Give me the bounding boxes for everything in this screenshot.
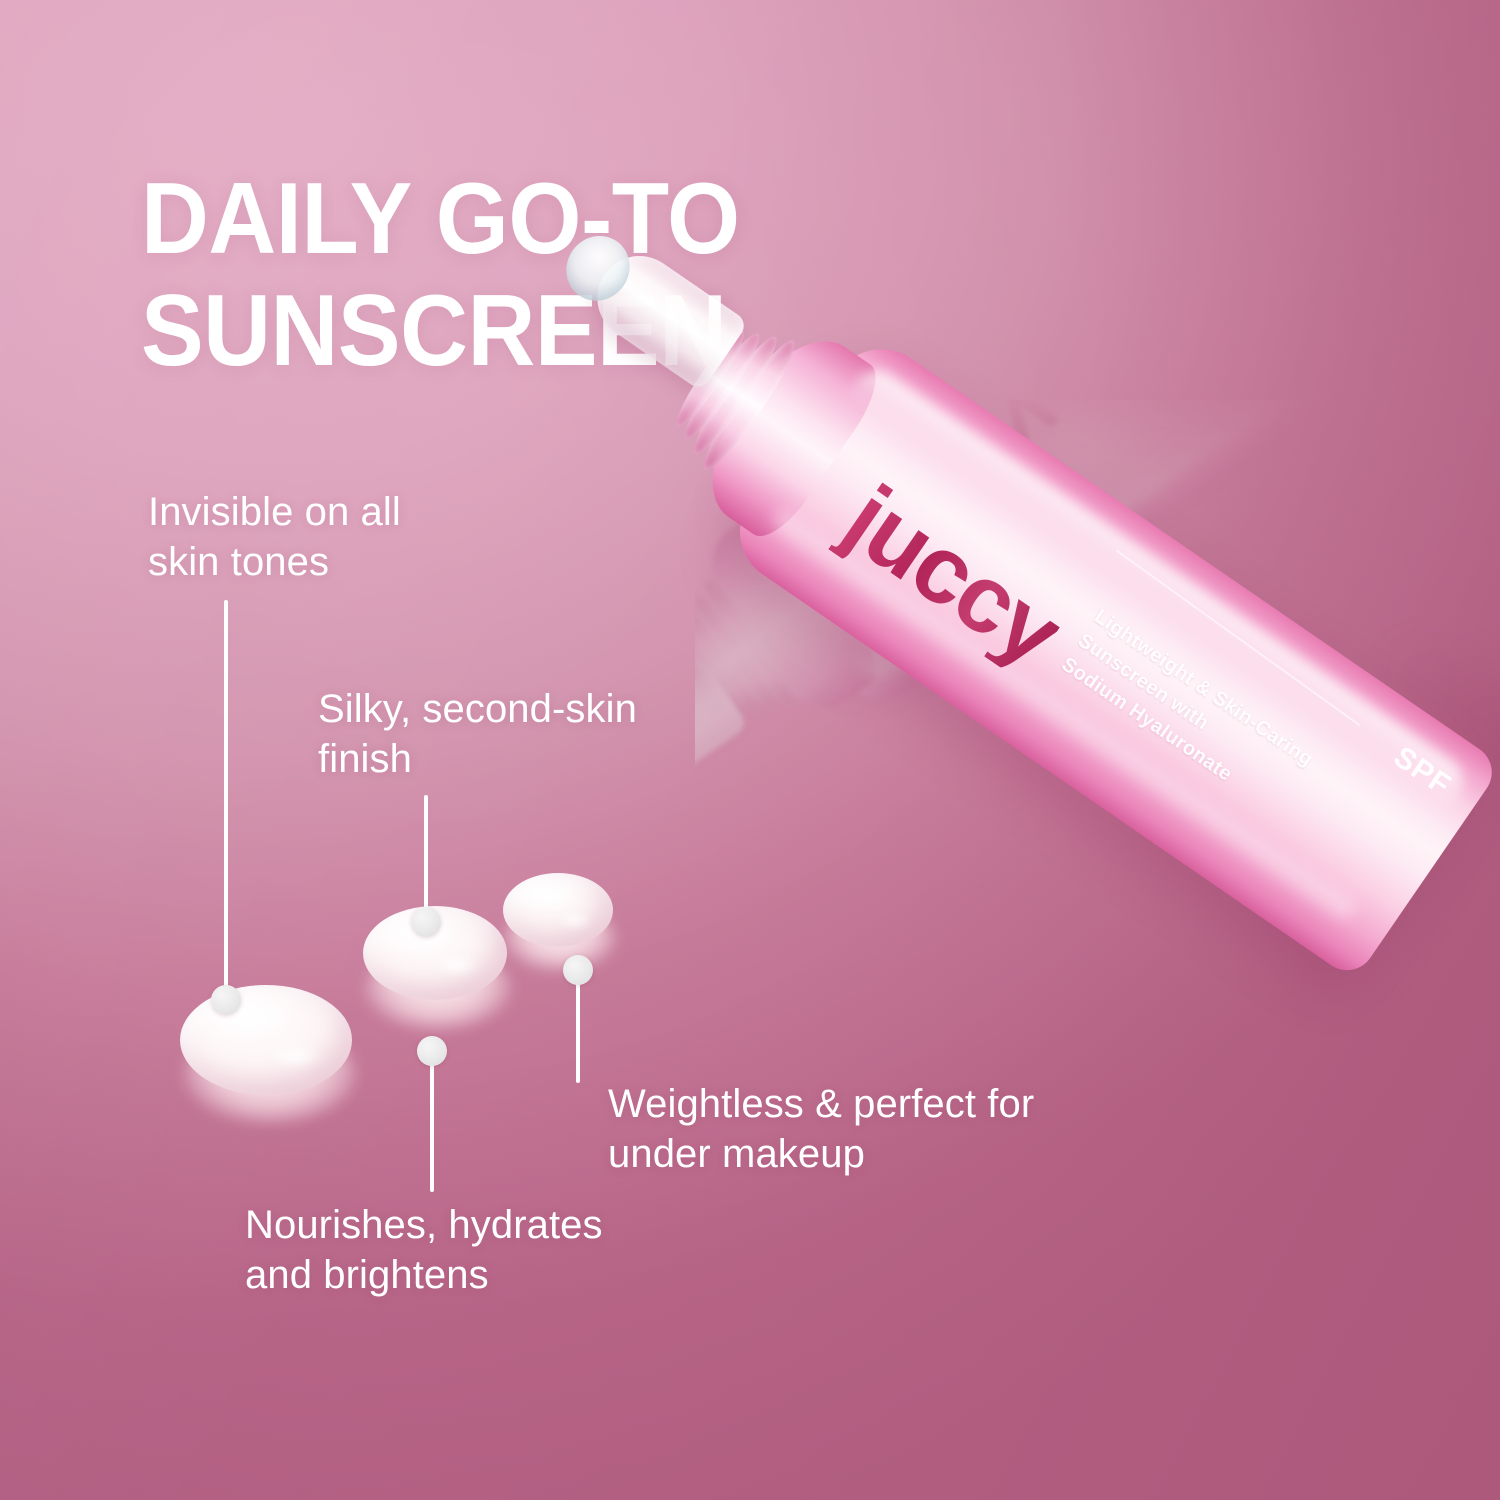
dollop-dome — [503, 873, 613, 947]
leader-line-invisible — [224, 600, 228, 1000]
callout-silky: Silky, second-skin finish — [318, 684, 738, 784]
dollop-dome — [180, 985, 352, 1095]
tube-geometry: SPF Lightweight & Skin-Caring Sunscreen … — [621, 261, 1495, 975]
product-shot: juccy SPF Lightweight & Skin-Caring Suns… — [640, 120, 1500, 1180]
cream-dollop-small — [501, 869, 617, 979]
leader-dot-weightless — [563, 955, 593, 985]
dollop-specular-highlight — [266, 1043, 324, 1069]
cream-dollop-large — [178, 975, 358, 1127]
product-marketing-image: DAILY GO-TO SUNSCREEN juccy — [0, 0, 1500, 1500]
callout-weightless: Weightless & perfect for under makeup — [608, 1079, 1108, 1179]
leader-dot-silky — [411, 907, 441, 937]
leader-dot-invisible — [211, 985, 241, 1015]
leader-line-silky — [424, 795, 428, 925]
callout-nourishes: Nourishes, hydrates and brightens — [245, 1200, 685, 1300]
callout-invisible: Invisible on all skin tones — [148, 487, 568, 587]
leader-dot-nourishes — [417, 1036, 447, 1066]
dollop-specular-highlight — [433, 954, 481, 976]
leader-line-nourishes — [430, 1044, 434, 1192]
dollop-specular-highlight — [557, 911, 593, 929]
